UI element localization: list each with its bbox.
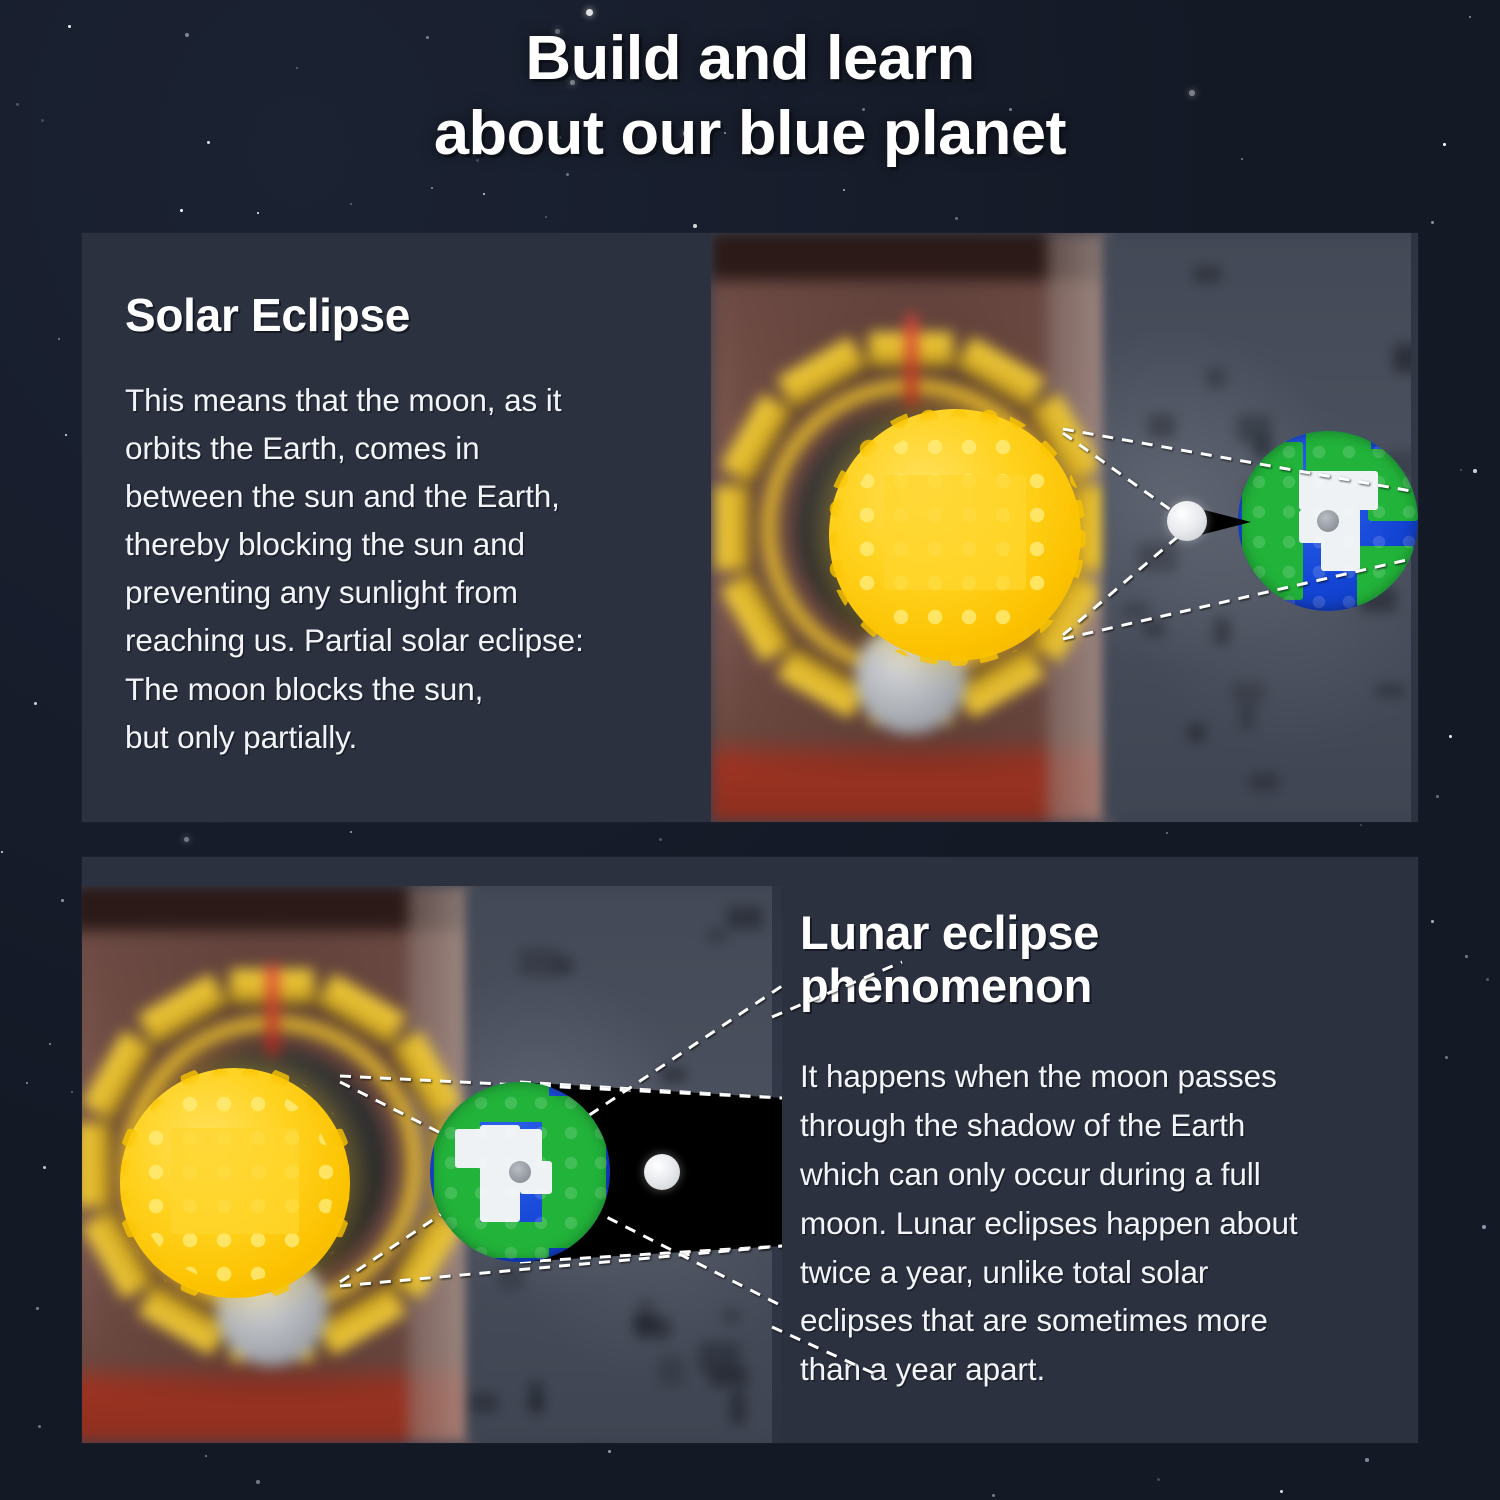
star-dot (71, 1091, 73, 1093)
star-dot (36, 1307, 39, 1310)
star-dot (256, 1480, 260, 1484)
star-dot (545, 216, 547, 218)
star-dot (26, 1082, 28, 1084)
star-dot (65, 434, 67, 436)
star-dot (350, 203, 352, 205)
star-dot (1482, 1225, 1486, 1229)
star-dot (586, 9, 593, 16)
lunar-heading-connector (82, 857, 1418, 1443)
tangent-ray-upper (1063, 429, 1411, 491)
star-dot (955, 217, 958, 220)
star-dot (483, 193, 485, 195)
star-dot (431, 187, 433, 189)
moon-ball (1167, 501, 1207, 541)
connector-line-bottom (772, 1327, 882, 1377)
star-dot (350, 831, 352, 833)
connector-line-top (772, 962, 902, 1017)
star-dot (1157, 1478, 1160, 1481)
title-line-1: Build and learn (0, 26, 1500, 91)
star-dot (1449, 735, 1452, 738)
star-dot (1431, 920, 1434, 923)
star-dot (49, 1043, 51, 1045)
infographic-page: Build and learn about our blue planet So… (0, 0, 1500, 1500)
solar-body-text: This means that the moon, as it orbits t… (125, 376, 705, 762)
star-dot (58, 338, 60, 340)
star-dot (61, 899, 64, 902)
star-dot (1465, 955, 1468, 958)
solar-text-column: Solar Eclipse This means that the moon, … (125, 290, 705, 761)
star-dot (992, 1494, 995, 1497)
card-lunar-eclipse: Lunar eclipse phenomenon It happens when… (82, 857, 1418, 1443)
star-dot (205, 1455, 207, 1457)
solar-ray-overlay (711, 233, 1418, 822)
star-dot (608, 1450, 611, 1453)
star-dot (1460, 469, 1462, 471)
star-dot (1, 851, 3, 853)
star-dot (566, 173, 569, 176)
star-dot (1431, 221, 1434, 224)
solar-heading: Solar Eclipse (125, 290, 705, 342)
star-dot (1473, 469, 1477, 473)
page-title: Build and learn about our blue planet (0, 26, 1500, 166)
star-dot (34, 702, 37, 705)
star-dot (184, 837, 189, 842)
star-dot (693, 224, 697, 228)
star-dot (257, 212, 259, 214)
star-dot (1360, 824, 1362, 826)
star-dot (1486, 978, 1489, 981)
title-line-2: about our blue planet (0, 101, 1500, 166)
star-dot (180, 209, 183, 212)
star-dot (1436, 795, 1439, 798)
star-dot (1365, 1458, 1369, 1462)
star-dot (1445, 1056, 1448, 1059)
card-solar-eclipse: Solar Eclipse This means that the moon, … (82, 233, 1418, 822)
star-dot (38, 1425, 41, 1428)
star-dot (1280, 1490, 1283, 1493)
star-dot (659, 838, 662, 841)
star-dot (43, 1166, 46, 1169)
star-dot (1166, 832, 1168, 834)
star-dot (843, 189, 845, 191)
solar-eclipse-photo (711, 233, 1418, 822)
star-dot (1469, 16, 1471, 18)
tangent-ray-lower (1063, 559, 1411, 639)
